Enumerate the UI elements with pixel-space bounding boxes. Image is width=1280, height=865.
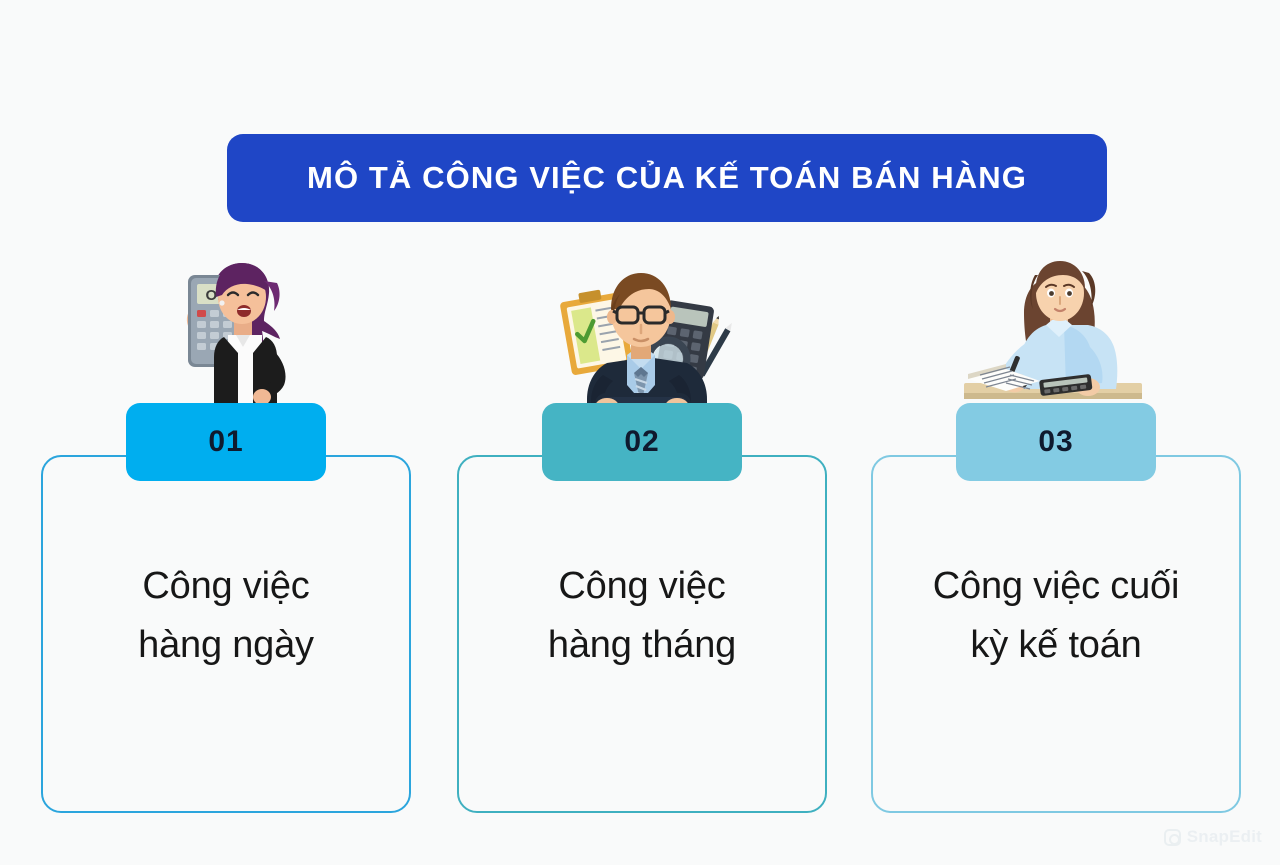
- card-label-03-line1: Công việc cuối: [873, 557, 1239, 616]
- illustration-woman-holding-calculator-ok: OK: [41, 255, 411, 415]
- column-02: 02 Công việc hàng tháng: [457, 255, 827, 815]
- watermark-text: SnapEdit: [1187, 827, 1262, 847]
- badge-number-03: 03: [1038, 425, 1073, 459]
- badge-number-02: 02: [624, 425, 659, 459]
- page-title: MÔ TẢ CÔNG VIỆC CỦA KẾ TOÁN BÁN HÀNG: [307, 160, 1027, 196]
- infographic-canvas: MÔ TẢ CÔNG VIỆC CỦA KẾ TOÁN BÁN HÀNG OK: [0, 0, 1280, 865]
- column-01: OK: [41, 255, 411, 815]
- illustration-businessman-arms-crossed-with-office-tools: [457, 255, 827, 415]
- snapedit-logo-icon: [1164, 829, 1181, 846]
- card-label-02-line1: Công việc: [459, 557, 825, 616]
- card-01[interactable]: Công việc hàng ngày: [41, 455, 411, 813]
- woman-holding-calculator-ok-icon: OK: [136, 255, 316, 415]
- badge-number-01: 01: [208, 425, 243, 459]
- card-03[interactable]: Công việc cuối kỳ kế toán: [871, 455, 1241, 813]
- card-label-02: Công việc hàng tháng: [459, 557, 825, 676]
- title-banner: MÔ TẢ CÔNG VIỆC CỦA KẾ TOÁN BÁN HÀNG: [227, 134, 1107, 222]
- badge-02: 02: [542, 403, 742, 481]
- businessman-arms-crossed-with-office-tools-icon: [535, 255, 750, 415]
- watermark: SnapEdit: [1164, 827, 1262, 847]
- illustration-woman-writing-ledger-at-desk: [871, 255, 1241, 415]
- woman-writing-ledger-at-desk-icon: [954, 255, 1159, 415]
- card-label-01-line2: hàng ngày: [43, 616, 409, 675]
- card-label-01-line1: Công việc: [43, 557, 409, 616]
- card-label-03: Công việc cuối kỳ kế toán: [873, 557, 1239, 676]
- column-03: 03 Công việc cuối kỳ kế toán: [871, 255, 1241, 815]
- badge-01: 01: [126, 403, 326, 481]
- card-02[interactable]: Công việc hàng tháng: [457, 455, 827, 813]
- card-label-03-line2: kỳ kế toán: [873, 616, 1239, 675]
- card-label-02-line2: hàng tháng: [459, 616, 825, 675]
- badge-03: 03: [956, 403, 1156, 481]
- card-label-01: Công việc hàng ngày: [43, 557, 409, 676]
